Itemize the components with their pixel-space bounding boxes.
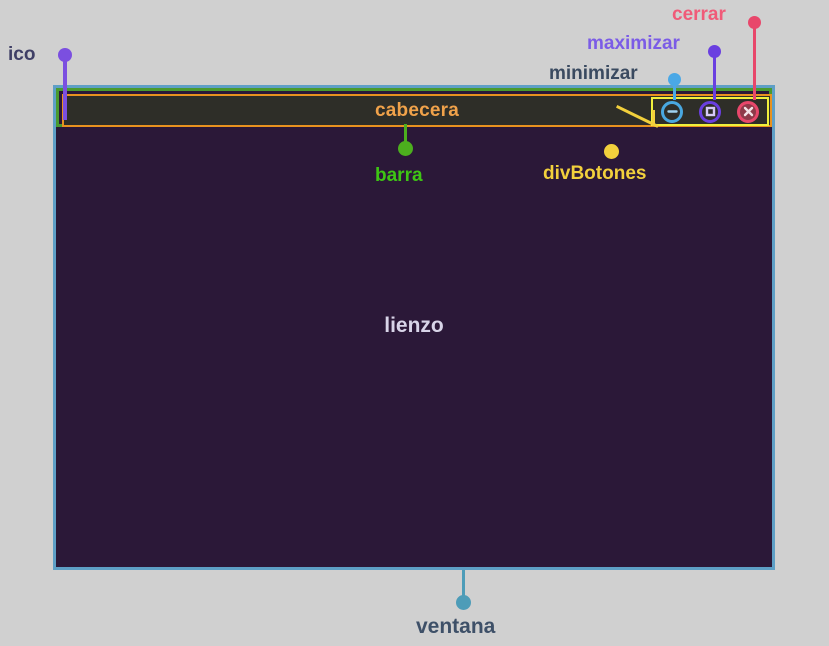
annotation-ico-dot xyxy=(58,48,72,62)
maximize-button[interactable] xyxy=(699,101,721,123)
annotation-ventana-dot xyxy=(456,595,471,610)
title-bar-barra[interactable]: cabecera xyxy=(56,88,772,127)
annotation-divbotones-label: divBotones xyxy=(543,163,646,185)
annotation-maximizar-leader xyxy=(713,52,716,100)
annotation-ico-leader xyxy=(63,60,67,120)
annotation-ventana-label: ventana xyxy=(416,615,495,639)
close-button[interactable] xyxy=(737,101,759,123)
annotation-ico-label: ico xyxy=(8,44,35,66)
annotation-cerrar-leader xyxy=(753,24,756,100)
annotation-minimizar-dot xyxy=(668,73,681,86)
annotated-mockup-stage: lienzo cabecera xyxy=(0,0,829,646)
annotation-divbotones-dot xyxy=(604,144,619,159)
annotation-minimizar-label: minimizar xyxy=(549,63,638,85)
minimize-icon xyxy=(666,105,679,118)
canvas-label: lienzo xyxy=(384,314,444,338)
window-ventana[interactable]: lienzo cabecera xyxy=(53,85,775,570)
header-cabecera[interactable]: cabecera xyxy=(62,94,772,127)
close-icon xyxy=(742,105,755,118)
canvas-lienzo[interactable]: lienzo xyxy=(56,127,772,567)
header-title: cabecera xyxy=(375,100,459,122)
minimize-button[interactable] xyxy=(661,101,683,123)
annotation-cerrar-dot xyxy=(748,16,761,29)
annotation-ventana-leader xyxy=(462,570,465,598)
window-buttons-container-divbotones xyxy=(651,97,769,126)
annotation-maximizar-label: maximizar xyxy=(587,33,680,55)
annotation-barra-dot xyxy=(398,141,413,156)
annotation-cerrar-label: cerrar xyxy=(672,4,726,26)
annotation-barra-label: barra xyxy=(375,165,423,187)
maximize-icon xyxy=(704,105,717,118)
annotation-maximizar-dot xyxy=(708,45,721,58)
